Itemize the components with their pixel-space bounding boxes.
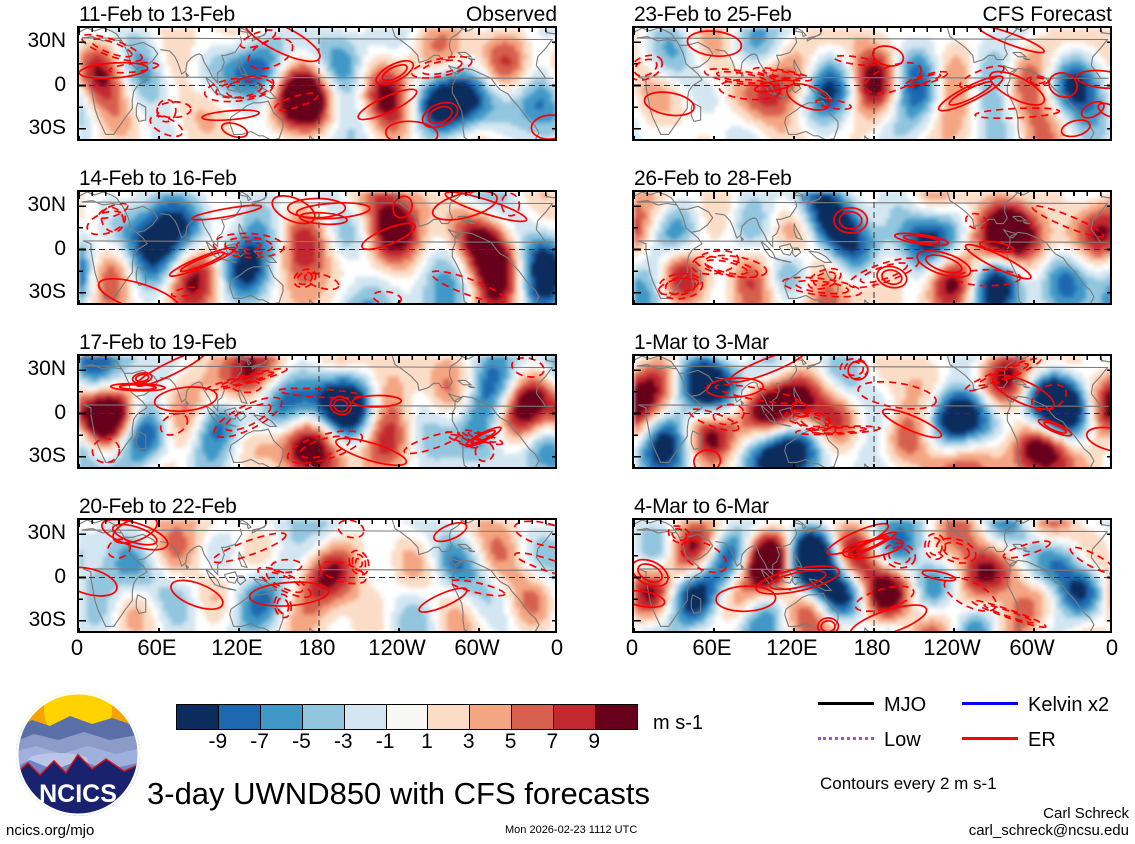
map-panel: [632, 190, 1112, 305]
colorbar-tick-label: -1: [365, 731, 405, 752]
colorbar-tick-label: -7: [240, 731, 280, 752]
map-panel: [632, 26, 1112, 141]
legend-label-er: ER: [1028, 730, 1056, 750]
x-axis-label: 120E: [197, 637, 277, 659]
panel-title: 20-Feb to 22-Feb: [79, 496, 236, 517]
y-axis-label: 0: [0, 402, 66, 423]
legend-line-er: [962, 737, 1018, 740]
map-panel: [77, 354, 557, 469]
x-axis-label: 120W: [912, 637, 992, 659]
colorbar-segment: [260, 705, 302, 729]
panel-title: 23-Feb to 25-Feb: [634, 4, 791, 25]
panel-title: 1-Mar to 3-Mar: [634, 332, 769, 353]
x-axis-label: 60E: [672, 637, 752, 659]
colorbar-segment: [177, 705, 218, 729]
x-axis-label: 60W: [437, 637, 517, 659]
x-axis-label: 180: [277, 637, 357, 659]
colorbar-tick-label: 5: [491, 731, 531, 752]
panel-tick-marks: [79, 28, 555, 139]
ncics-logo-text: NCICS: [39, 780, 117, 808]
colorbar: [176, 704, 638, 730]
site-link[interactable]: ncics.org/mjo: [6, 823, 94, 838]
map-panel: [77, 26, 557, 141]
map-panel: [632, 354, 1112, 469]
legend-label-low: Low: [884, 730, 921, 750]
colorbar-segment: [553, 705, 595, 729]
map-panel: [77, 190, 557, 305]
y-axis-label: 30S: [0, 445, 66, 466]
x-axis-label: 60E: [117, 637, 197, 659]
panel-title: 14-Feb to 16-Feb: [79, 168, 236, 189]
colorbar-tick-label: 7: [532, 731, 572, 752]
colorbar-segment: [218, 705, 260, 729]
panel-corner-label: CFS Forecast: [982, 4, 1112, 25]
panel-title: 17-Feb to 19-Feb: [79, 332, 236, 353]
panel-tick-marks: [634, 28, 1110, 139]
y-axis-label: 30N: [0, 30, 66, 51]
y-axis-label: 0: [0, 238, 66, 259]
colorbar-tick-label: 9: [574, 731, 614, 752]
panel-tick-marks: [79, 520, 555, 631]
panel-tick-marks: [634, 192, 1110, 303]
panel-tick-marks: [634, 356, 1110, 467]
x-axis-label: 0: [592, 637, 672, 659]
colorbar-segment: [427, 705, 469, 729]
colorbar-tick-label: 1: [407, 731, 447, 752]
colorbar-tick-label: -9: [198, 731, 238, 752]
x-axis-label: 180: [832, 637, 912, 659]
panel-title: 11-Feb to 13-Feb: [79, 4, 235, 25]
panel-tick-marks: [634, 520, 1110, 631]
colorbar-tick-label: -5: [281, 731, 321, 752]
colorbar-tick-label: -3: [323, 731, 363, 752]
colorbar-unit-label: m s-1: [653, 713, 703, 733]
colorbar-segment: [386, 705, 428, 729]
legend-label-mjo: MJO: [884, 695, 926, 715]
colorbar-segment: [469, 705, 511, 729]
panel-corner-label: Observed: [466, 4, 557, 25]
x-axis-label: 0: [517, 637, 597, 659]
colorbar-segment: [595, 705, 637, 729]
map-panel: [77, 518, 557, 633]
y-axis-label: 30S: [0, 117, 66, 138]
y-axis-label: 30N: [0, 194, 66, 215]
contour-interval-note: Contours every 2 m s-1: [820, 775, 997, 792]
x-axis-label: 0: [1072, 637, 1135, 659]
y-axis-label: 30S: [0, 281, 66, 302]
map-panel: [632, 518, 1112, 633]
x-axis-label: 60W: [992, 637, 1072, 659]
legend-line-mjo: [818, 702, 874, 705]
y-axis-label: 30S: [0, 609, 66, 630]
x-axis-label: 120W: [357, 637, 437, 659]
legend-line-kelvin-x2: [962, 702, 1018, 705]
author-email[interactable]: carl_schreck@ncsu.edu: [969, 823, 1129, 838]
colorbar-segment: [511, 705, 553, 729]
figure-title: 3-day UWND850 with CFS forecasts: [147, 778, 650, 809]
panel-tick-marks: [79, 192, 555, 303]
y-axis-label: 0: [0, 566, 66, 587]
panel-tick-marks: [79, 356, 555, 467]
legend-label-kelvin-x2: Kelvin x2: [1028, 695, 1109, 715]
ncics-logo: NCICS: [14, 690, 142, 818]
panel-title: 26-Feb to 28-Feb: [634, 168, 791, 189]
legend-line-low: [818, 737, 874, 740]
x-axis-label: 0: [37, 637, 117, 659]
generation-timestamp: Mon 2026-02-23 1112 UTC: [505, 825, 637, 836]
y-axis-label: 30N: [0, 358, 66, 379]
author-name: Carl Schreck: [1043, 806, 1129, 821]
ncics-logo-graphic: NCICS: [14, 690, 142, 818]
colorbar-tick-label: 3: [449, 731, 489, 752]
y-axis-label: 0: [0, 74, 66, 95]
colorbar-segment: [302, 705, 344, 729]
colorbar-segment: [344, 705, 386, 729]
y-axis-label: 30N: [0, 522, 66, 543]
panel-title: 4-Mar to 6-Mar: [634, 496, 769, 517]
x-axis-label: 120E: [752, 637, 832, 659]
